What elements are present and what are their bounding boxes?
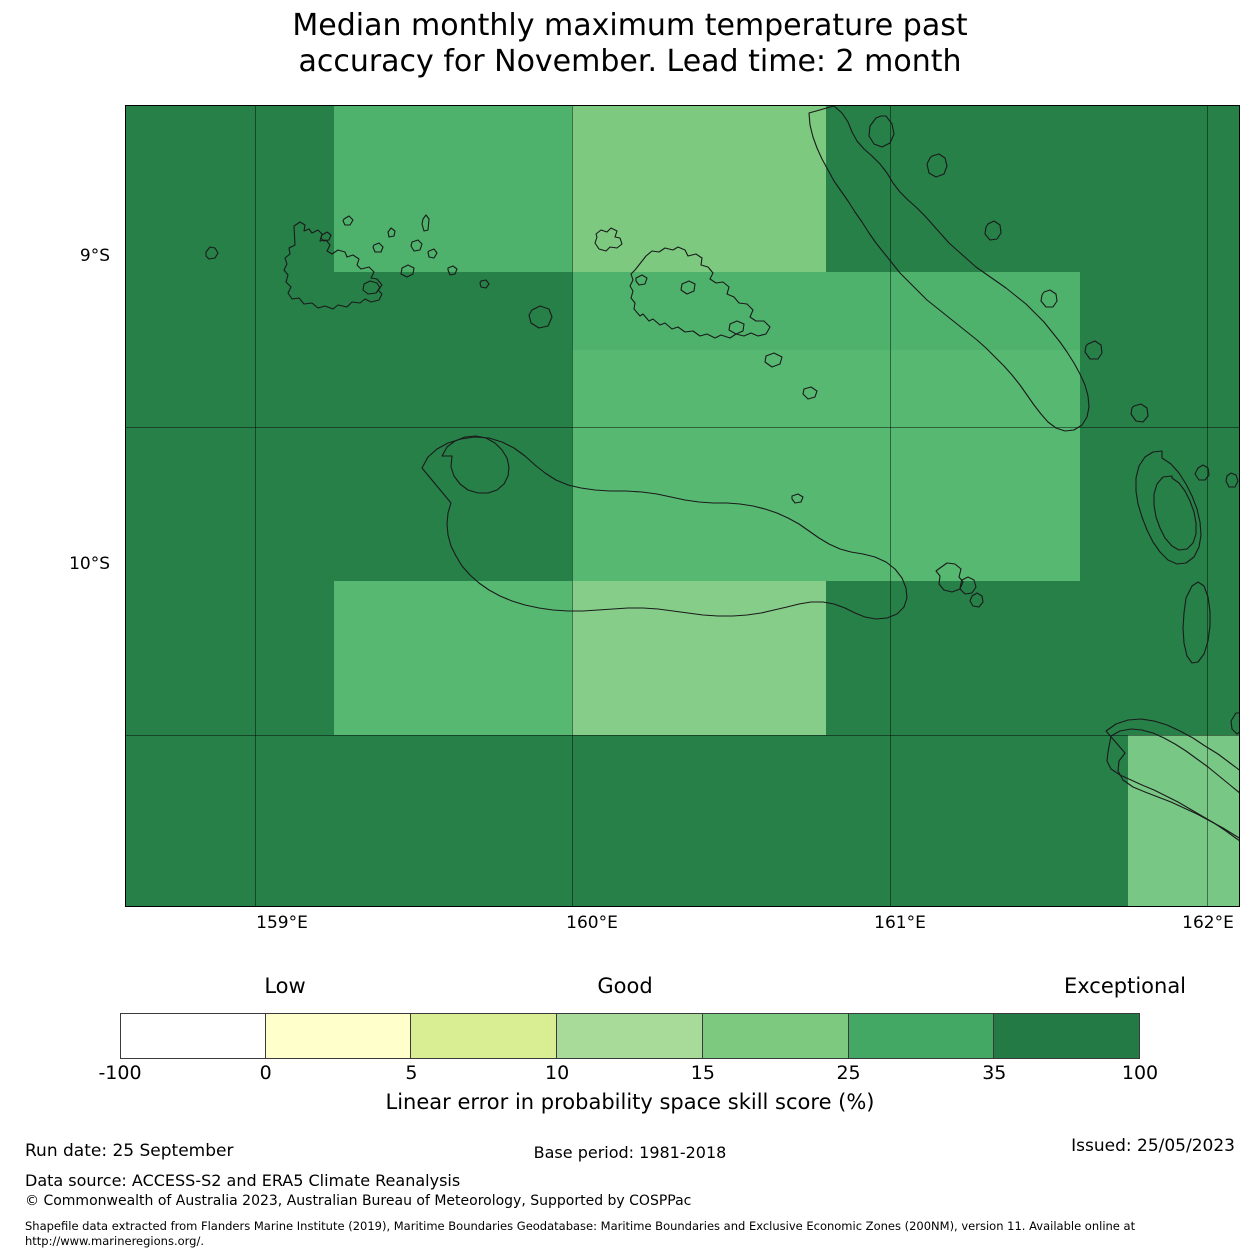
x-tick-label-160e: 160°E: [532, 913, 652, 933]
colorbar-tick-label: 100: [1080, 1062, 1200, 1084]
x-tick-label-161e: 161°E: [840, 913, 960, 933]
colorbar-segment[interactable]: [120, 1013, 267, 1059]
colorbar-tick-label: 10: [497, 1062, 617, 1084]
colorbar-tick-label: -100: [60, 1062, 180, 1084]
page-title: Median monthly maximum temperature past …: [0, 8, 1260, 80]
colorbar-category-exceptional: Exceptional: [995, 974, 1255, 998]
colorbar-segment[interactable]: [265, 1013, 412, 1059]
x-tick-label-162e: 162°E: [1148, 913, 1260, 933]
colorbar[interactable]: [120, 1013, 1140, 1059]
shapefile-attribution-text: Shapefile data extracted from Flanders M…: [25, 1219, 1240, 1249]
colorbar-category-good: Good: [495, 974, 755, 998]
colorbar-segment[interactable]: [556, 1013, 703, 1059]
colorbar-segment[interactable]: [993, 1013, 1140, 1059]
colorbar-category-low: Low: [155, 974, 415, 998]
colorbar-tick-label: 35: [934, 1062, 1054, 1084]
copyright-text: © Commonwealth of Australia 2023, Austra…: [25, 1193, 691, 1209]
forecast-skill-map-page: Median monthly maximum temperature past …: [0, 0, 1260, 1260]
x-tick-label-159e: 159°E: [222, 913, 342, 933]
colorbar-segment[interactable]: [410, 1013, 557, 1059]
colorbar-tick-label: 0: [206, 1062, 326, 1084]
colorbar-tick-label: 25: [789, 1062, 909, 1084]
skill-score-map[interactable]: [125, 105, 1240, 907]
colorbar-segment[interactable]: [848, 1013, 995, 1059]
colorbar-segment[interactable]: [702, 1013, 849, 1059]
issued-date-text: Issued: 25/05/2023: [1071, 1136, 1235, 1156]
y-tick-label-10s: 10°S: [0, 554, 110, 574]
colorbar-axis-label: Linear error in probability space skill …: [0, 1090, 1260, 1114]
colorbar-tick-label: 5: [351, 1062, 471, 1084]
data-source-text: Data source: ACCESS-S2 and ERA5 Climate …: [25, 1171, 460, 1190]
coastline-overlay: [126, 106, 1239, 906]
colorbar-tick-label: 15: [643, 1062, 763, 1084]
y-tick-label-9s: 9°S: [0, 246, 110, 266]
